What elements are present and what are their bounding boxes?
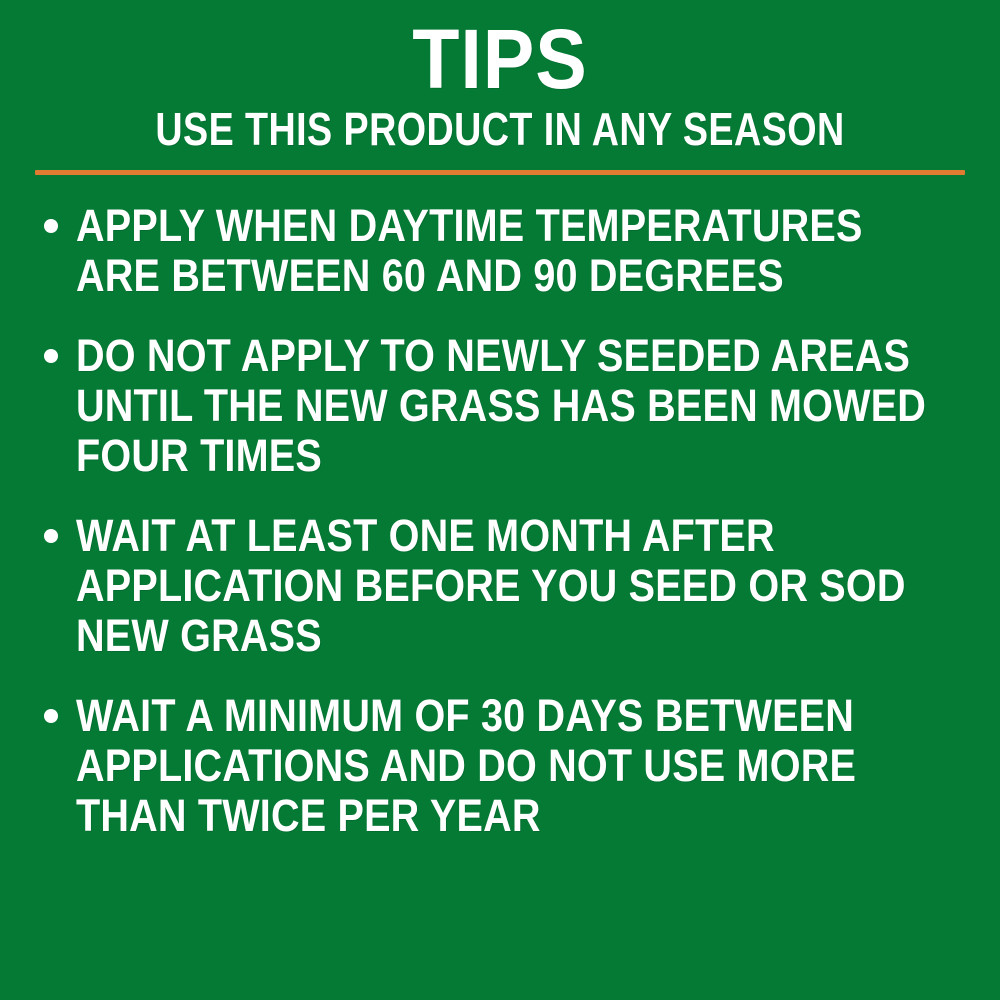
page-title: TIPS — [40, 18, 960, 100]
page-subtitle: USE THIS PRODUCT IN ANY SEASON — [90, 106, 910, 152]
list-item: DO NOT APPLY TO NEWLY SEEDED AREAS UNTIL… — [44, 331, 960, 481]
tip-text: APPLY WHEN DAYTIME TEMPERATURES ARE BETW… — [76, 201, 955, 301]
tip-text: WAIT A MINIMUM OF 30 DAYS BETWEEN APPLIC… — [76, 691, 955, 841]
bullet-dot-icon — [44, 349, 58, 363]
bullet-dot-icon — [44, 219, 58, 233]
list-item: APPLY WHEN DAYTIME TEMPERATURES ARE BETW… — [44, 201, 960, 301]
poster-header: TIPS USE THIS PRODUCT IN ANY SEASON — [0, 0, 1000, 152]
tips-list: APPLY WHEN DAYTIME TEMPERATURES ARE BETW… — [0, 175, 1000, 841]
list-item: WAIT A MINIMUM OF 30 DAYS BETWEEN APPLIC… — [44, 691, 960, 841]
bullet-dot-icon — [44, 709, 58, 723]
bullet-dot-icon — [44, 529, 58, 543]
tip-text: WAIT AT LEAST ONE MONTH AFTER APPLICATIO… — [76, 511, 955, 661]
tip-text: DO NOT APPLY TO NEWLY SEEDED AREAS UNTIL… — [76, 331, 955, 481]
tips-poster: TIPS USE THIS PRODUCT IN ANY SEASON APPL… — [0, 0, 1000, 1000]
list-item: WAIT AT LEAST ONE MONTH AFTER APPLICATIO… — [44, 511, 960, 661]
